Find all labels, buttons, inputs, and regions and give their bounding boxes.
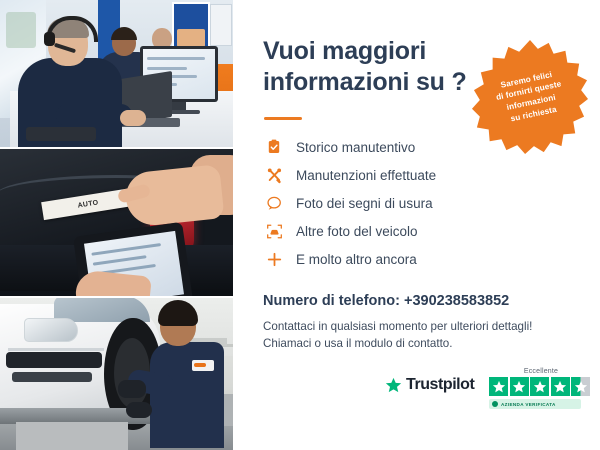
photo1-headset-cup — [44, 32, 55, 46]
star-5-half — [571, 377, 590, 396]
feature-item-manutenzioni-effettuate: Manutenzioni effettuate — [263, 161, 563, 189]
phone-number[interactable]: +390238583852 — [404, 293, 509, 309]
call-centre-agents-photo — [0, 0, 233, 147]
photo3-headlight — [24, 318, 78, 342]
feature-item-storico-manutentivo: Storico manutentivo — [263, 133, 563, 161]
headline-line-2: informazioni su ? — [263, 67, 483, 98]
car-frame-icon — [263, 220, 285, 242]
contact-note-line-1: Contattaci in qualsiasi momento per ulte… — [263, 318, 563, 335]
feature-label: Foto dei segni di usura — [296, 196, 433, 211]
photo3-mechanic-badge — [192, 360, 214, 371]
trustpilot-rating-word: Eccellente — [489, 368, 593, 375]
trustpilot-logo: Trustpilot — [385, 376, 474, 394]
photo1-poster-2 — [210, 4, 232, 46]
page-title: Vuoi maggiori informazioni su ? — [263, 36, 483, 97]
feature-label: Storico manutentivo — [296, 140, 415, 155]
trustpilot-stars — [489, 377, 593, 396]
feature-item-altre-foto-veicolo: Altre foto del veicolo — [263, 217, 563, 245]
verified-business-badge: AZIENDA VERIFICATA — [489, 399, 581, 409]
phone-label: Numero di telefono: — [263, 293, 400, 309]
mechanic-wheel-photo — [0, 298, 233, 450]
feature-label: Manutenzioni effettuate — [296, 168, 436, 183]
headline-line-1: Vuoi maggiori — [263, 36, 483, 67]
photo1-agent-1-hand — [120, 110, 146, 126]
trustpilot-star-icon — [385, 377, 402, 394]
sticker-on-car-photo: AUTO — [0, 149, 233, 296]
verified-badge-text: AZIENDA VERIFICATA — [501, 402, 556, 407]
star-2 — [510, 377, 529, 396]
contact-note-line-2: Chiamaci o usa il modulo di contatto. — [263, 335, 563, 352]
trustpilot-wordmark: Trustpilot — [406, 376, 474, 394]
feature-item-foto-segni-usura: Foto dei segni di usura — [263, 189, 563, 217]
wrench-screwdriver-icon — [263, 164, 285, 186]
phone-line: Numero di telefono: +390238583852 — [263, 293, 509, 309]
feature-list: Storico manutentivo Manutenzioni effettu… — [263, 133, 563, 273]
title-divider — [264, 117, 302, 120]
feature-item-molto-altro: E molto altro ancora — [263, 245, 563, 273]
content-panel: Vuoi maggiori informazioni su ? Saremo f… — [233, 0, 600, 450]
promo-banner: AUTO — [0, 0, 600, 450]
feature-label: Altre foto del veicolo — [296, 224, 418, 239]
plus-icon — [263, 248, 285, 270]
feature-label: E molto altro ancora — [296, 252, 417, 267]
speech-bubble-icon — [263, 192, 285, 214]
clipboard-check-icon — [263, 136, 285, 158]
star-3 — [530, 377, 549, 396]
trustpilot-rating: Eccellente — [489, 368, 593, 409]
photo3-grille — [6, 352, 102, 368]
verified-check-icon — [492, 401, 498, 407]
photo3-chrome-trim — [8, 348, 104, 351]
photo1-desk-tablet — [26, 127, 96, 141]
photo1-poster — [172, 2, 210, 52]
star-1 — [489, 377, 508, 396]
photo3-lift-post — [16, 422, 128, 450]
photo3-mechanic-glove-upper — [118, 380, 146, 398]
photo-column: AUTO — [0, 0, 233, 450]
photo3-mechanic-glove-lower — [126, 402, 152, 418]
photo3-lower-grille — [12, 372, 92, 382]
star-4 — [551, 377, 570, 396]
trustpilot-widget[interactable]: Trustpilot Eccellente — [385, 368, 593, 414]
